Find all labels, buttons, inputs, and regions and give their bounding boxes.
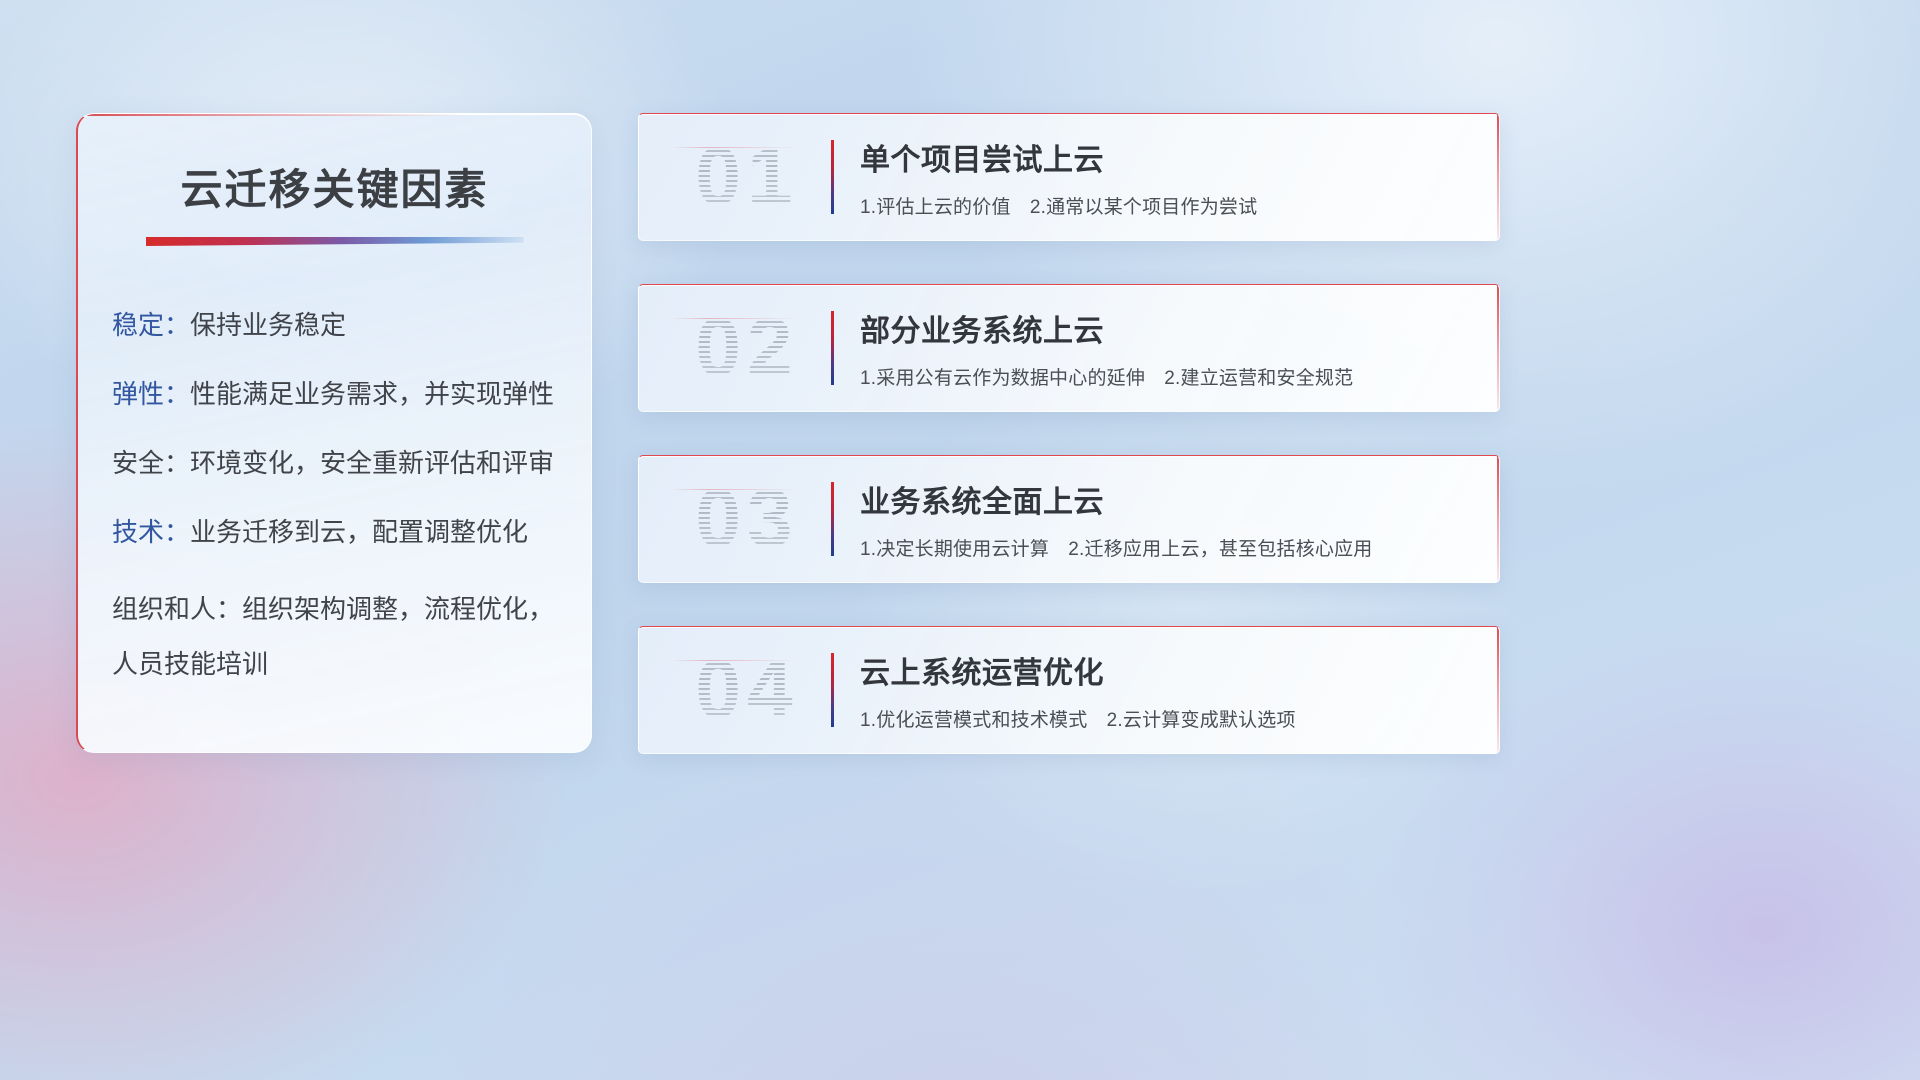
step-title: 单个项目尝试上云 <box>860 135 1475 179</box>
step-title: 部分业务系统上云 <box>860 306 1475 350</box>
factor-text: 性能满足业务需求，并实现弹性 <box>190 379 554 409</box>
factor-text: 环境变化，安全重新评估和评审 <box>190 448 554 478</box>
accent-bar <box>831 140 834 214</box>
step-body: 部分业务系统上云 1.采用公有云作为数据中心的延伸 2.建立运营和安全规范 <box>860 306 1499 390</box>
step-title: 云上系统运营优化 <box>860 648 1475 692</box>
step-number-watermark: 02 <box>663 285 831 411</box>
step-body: 云上系统运营优化 1.优化运营模式和技术模式 2.云计算变成默认选项 <box>860 648 1499 732</box>
step-subtitle: 1.优化运营模式和技术模式 2.云计算变成默认选项 <box>860 705 1475 732</box>
step-card[interactable]: 01 单个项目尝试上云 1.评估上云的价值 2.通常以某个项目作为尝试 <box>638 113 1500 241</box>
factor-label: 技术： <box>112 517 190 547</box>
factor-text: 业务迁移到云，配置调整优化 <box>190 517 528 547</box>
factor-label: 稳定： <box>112 310 190 340</box>
factor-label: 组织和人： <box>112 594 242 624</box>
key-factors-panel: 云迁移关键因素 稳定：保持业务稳定 弹性：性能满足业务需求，并实现弹性 安全：环… <box>76 113 592 753</box>
title-underline-rule <box>146 237 524 246</box>
step-subtitle: 1.评估上云的价值 2.通常以某个项目作为尝试 <box>860 192 1475 219</box>
step-body: 业务系统全面上云 1.决定长期使用云计算 2.迁移应用上云，甚至包括核心应用 <box>860 477 1499 561</box>
factor-item: 稳定：保持业务稳定 <box>112 306 569 345</box>
step-number-watermark: 03 <box>663 456 831 582</box>
step-card[interactable]: 03 业务系统全面上云 1.决定长期使用云计算 2.迁移应用上云，甚至包括核心应… <box>638 455 1500 583</box>
step-body: 单个项目尝试上云 1.评估上云的价值 2.通常以某个项目作为尝试 <box>860 135 1499 219</box>
step-card[interactable]: 02 部分业务系统上云 1.采用公有云作为数据中心的延伸 2.建立运营和安全规范 <box>638 284 1500 412</box>
step-number-watermark: 04 <box>663 627 831 753</box>
factor-item: 弹性：性能满足业务需求，并实现弹性 <box>112 375 569 414</box>
factor-item: 技术：业务迁移到云，配置调整优化 <box>112 513 569 552</box>
accent-bar <box>831 311 834 385</box>
factor-text: 保持业务稳定 <box>190 310 346 340</box>
migration-steps-stack: 01 单个项目尝试上云 1.评估上云的价值 2.通常以某个项目作为尝试 02 部… <box>638 113 1500 797</box>
page-title: 云迁移关键因素 <box>78 156 591 217</box>
slide-canvas: 云迁移关键因素 稳定：保持业务稳定 弹性：性能满足业务需求，并实现弹性 安全：环… <box>0 0 1920 1080</box>
accent-bar <box>831 482 834 556</box>
step-subtitle: 1.决定长期使用云计算 2.迁移应用上云，甚至包括核心应用 <box>860 534 1475 561</box>
step-card[interactable]: 04 云上系统运营优化 1.优化运营模式和技术模式 2.云计算变成默认选项 <box>638 626 1500 754</box>
step-subtitle: 1.采用公有云作为数据中心的延伸 2.建立运营和安全规范 <box>860 363 1475 390</box>
factor-item: 组织和人：组织架构调整，流程优化，人员技能培训 <box>112 582 569 691</box>
accent-bar <box>831 653 834 727</box>
factor-label: 安全： <box>112 448 190 478</box>
factor-label: 弹性： <box>112 379 190 409</box>
factor-item: 安全：环境变化，安全重新评估和评审 <box>112 444 569 483</box>
step-number-watermark: 01 <box>663 114 831 240</box>
factor-list: 稳定：保持业务稳定 弹性：性能满足业务需求，并实现弹性 安全：环境变化，安全重新… <box>78 306 591 691</box>
step-title: 业务系统全面上云 <box>860 477 1475 521</box>
